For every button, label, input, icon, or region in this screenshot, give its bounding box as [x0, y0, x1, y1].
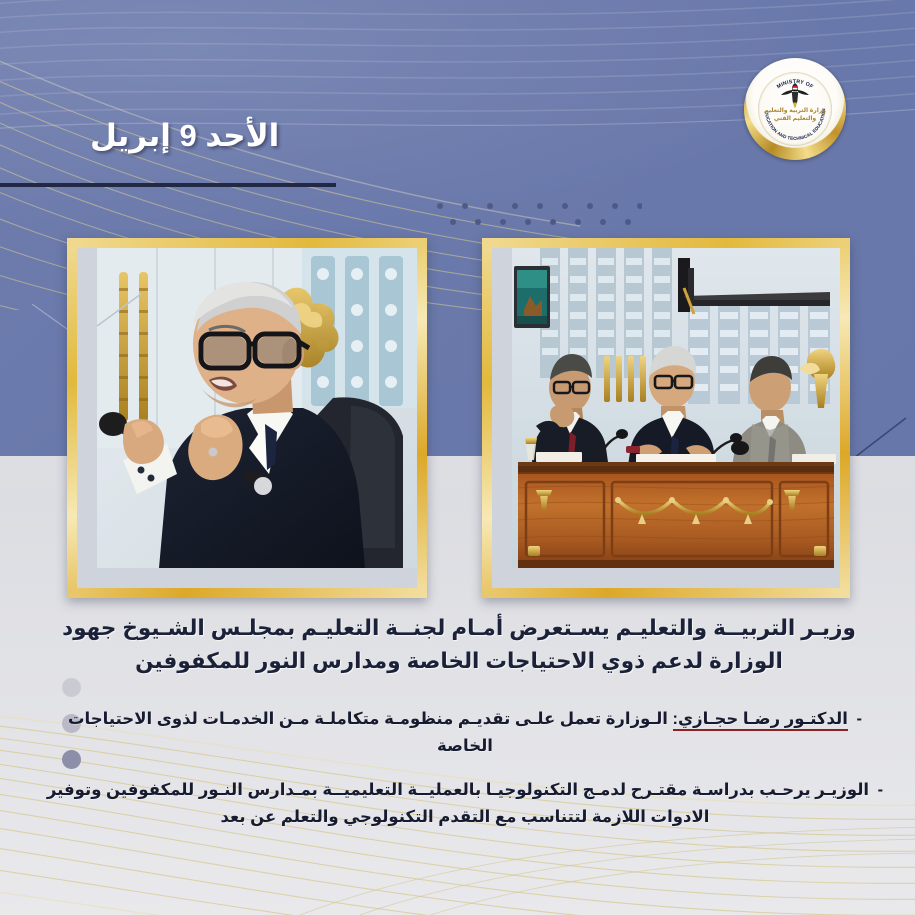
photo-senate-education-committee-image [492, 248, 840, 588]
announcement-card: الأحد 9 إبريل MINISTRY OF EDUCATION AND … [0, 0, 915, 915]
bullet-text-2: الوزيـر يرحـب بدراسـة مقتـرح لدمـج التكن… [47, 781, 869, 826]
bullet-dash-1: - [857, 710, 863, 728]
photo-minister-speaking-image [77, 248, 417, 588]
photo-senate-education-committee[interactable] [482, 238, 850, 598]
seal-ring-text: MINISTRY OF EDUCATION AND TECHNICAL EDUC… [758, 72, 832, 146]
header-wave-lines-icon [0, 0, 915, 270]
bullet-list: - الدكتـور رضـا حجـازي: الـوزارة تعمل عل… [46, 706, 884, 849]
bullet-item-1: - الدكتـور رضـا حجـازي: الـوزارة تعمل عل… [46, 706, 884, 759]
svg-text:MINISTRY OF: MINISTRY OF [776, 79, 815, 91]
page-headline: وزيـر التربيــة والتعليـم يسـتعرض أمـام … [40, 612, 878, 679]
ministry-of-education-seal-icon: MINISTRY OF EDUCATION AND TECHNICAL EDUC… [744, 58, 846, 160]
date-underline [0, 183, 336, 187]
side-dot-1-icon [62, 678, 81, 697]
bullet-text-1: الـوزارة تعمل علـى تقديـم منظومـة متكامل… [68, 710, 668, 755]
bullet-item-2: - الوزيـر يرحـب بدراسـة مقتـرح لدمـج الت… [46, 777, 884, 830]
dot-grid-decoration-icon [432, 200, 642, 230]
date-label: الأحد 9 إبريل [90, 118, 330, 154]
bullet-dash-2: - [878, 781, 884, 799]
header-diagonal-accent-right-icon [840, 408, 915, 456]
seal-arabic-text: وزارة التربية والتعليم والتعليم الفني [758, 108, 832, 123]
svg-text:EDUCATION AND TECHNICAL EDUCAT: EDUCATION AND TECHNICAL EDUCATION [758, 72, 826, 141]
bullet-name-highlight-1: الدكتـور رضـا حجـازي: [673, 710, 848, 731]
photo-minister-speaking[interactable] [67, 238, 427, 598]
eagle-of-saladin-icon [780, 81, 810, 109]
